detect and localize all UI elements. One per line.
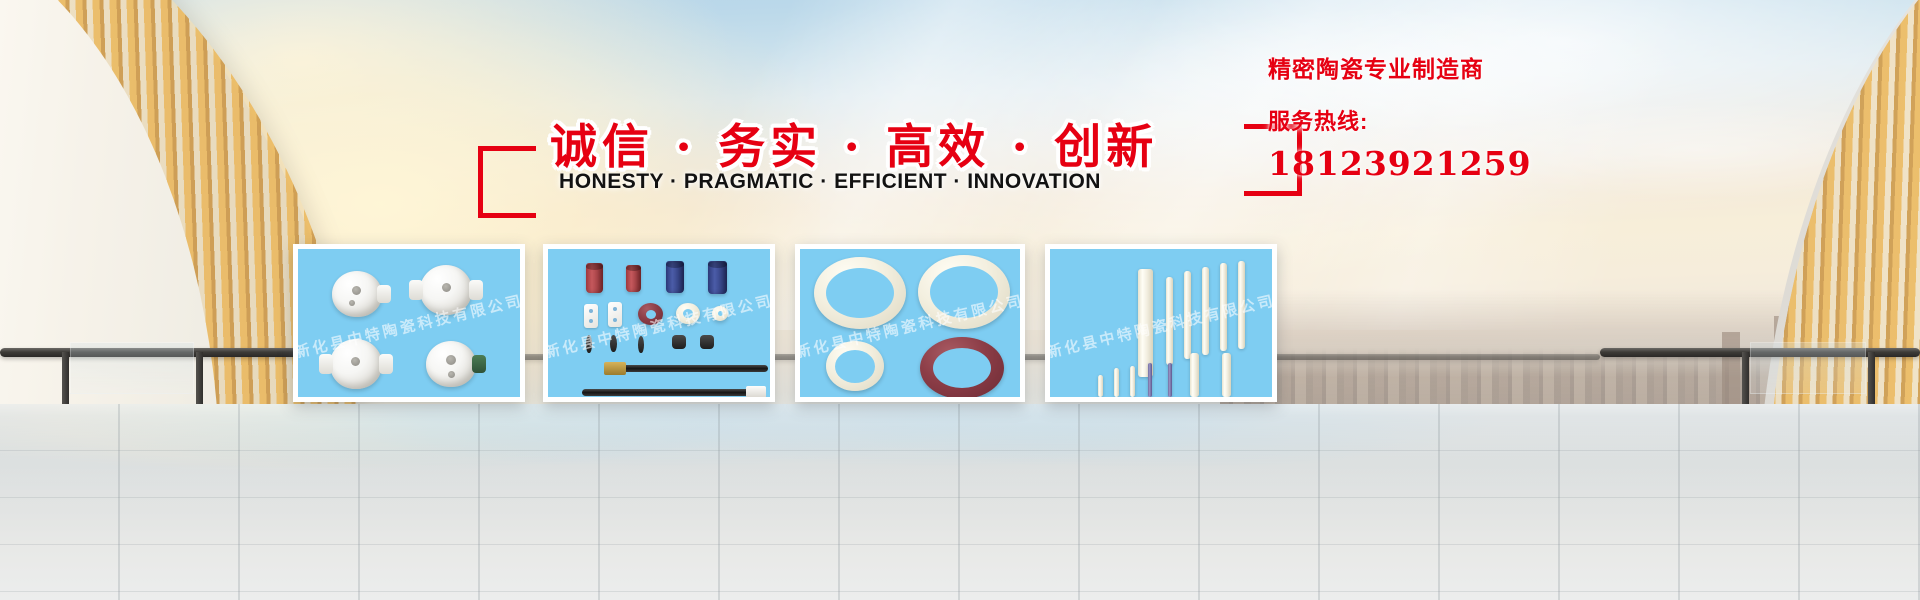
watermark: 新化县中特陶瓷科技有限公司 [298,289,520,362]
ceramic-tube [666,261,684,293]
product-panel-rods[interactable]: 新化县中特陶瓷科技有限公司 [1045,244,1277,402]
holder-hole [349,300,355,306]
ceramic-ring-maroon [920,337,1004,397]
ceramic-rod [1138,269,1153,377]
ceramic-rod [1202,267,1209,355]
lamp-holder [332,271,382,317]
ceramic-plate [584,304,598,328]
ring-bore [683,309,693,318]
holder-hole [446,355,456,365]
ring-bore [646,310,656,319]
watermark: 新化县中特陶瓷科技有限公司 [548,289,770,362]
holder-tab [377,285,391,303]
product-panel-components[interactable]: 新化县中特陶瓷科技有限公司 [543,244,775,402]
metal-clip [638,336,644,353]
product-panel-strip: 新化县中特陶瓷科技有限公司 [0,0,1920,600]
ring-bore [835,350,875,383]
ring-bore [933,348,991,388]
ceramic-plate [608,302,622,327]
panel-image: 新化县中特陶瓷科技有限公司 [548,249,770,397]
lamp-holder [426,341,476,387]
holder-hole [442,283,451,292]
ceramic-ring [676,303,700,324]
ceramic-tube [586,263,603,293]
ceramic-ring-large [918,255,1010,329]
ceramic-ring-small [826,341,884,391]
metal-clip [586,335,592,353]
ceramic-pin-violet [1148,363,1152,397]
ceramic-tube [626,265,641,292]
metal-clip [700,335,714,349]
ceramic-pin [1098,375,1103,397]
holder-contact-tab [472,355,486,373]
ceramic-pin [1114,368,1119,397]
ceramic-tube [708,261,727,294]
company-hero-banner: 诚信 · 务实 · 高效 · 创新 HONESTY · PRAGMATIC · … [0,0,1920,600]
ceramic-pin-violet [1168,363,1172,397]
ceramic-pin [1130,366,1135,397]
wire-end-cap [746,386,766,397]
lamp-holder [330,339,382,389]
wire-terminal [604,362,626,375]
holder-tab [319,354,333,374]
ceramic-bead [712,306,728,321]
panel-image: 新化县中特陶瓷科技有限公司 [800,249,1020,397]
ceramic-ring-large [814,257,906,329]
panel-image: 新化县中特陶瓷科技有限公司 [298,249,520,397]
holder-tab [409,280,423,300]
holder-tab [469,280,483,300]
product-panel-rings[interactable]: 新化县中特陶瓷科技有限公司 [795,244,1025,402]
lead-wire [618,365,768,372]
ceramic-rod [1238,261,1245,349]
metal-clip [610,335,617,352]
ceramic-rod [1166,277,1173,365]
lamp-holder [420,265,472,315]
ring-bore [930,266,998,318]
holder-hole [448,371,455,378]
ceramic-pin [1190,353,1199,397]
metal-clip [672,335,686,349]
holder-tab [379,354,393,374]
ceramic-pin [1222,353,1231,397]
product-panel-lamp-holders[interactable]: 新化县中特陶瓷科技有限公司 [293,244,525,402]
panel-image: 新化县中特陶瓷科技有限公司 [1050,249,1272,397]
holder-hole [352,286,361,295]
ceramic-rod [1184,271,1191,359]
ceramic-ring [638,303,663,325]
bead-bore [718,311,723,316]
ring-bore [826,268,894,318]
ceramic-rod [1220,263,1227,351]
lead-wire [582,389,758,396]
holder-hole [351,357,360,366]
